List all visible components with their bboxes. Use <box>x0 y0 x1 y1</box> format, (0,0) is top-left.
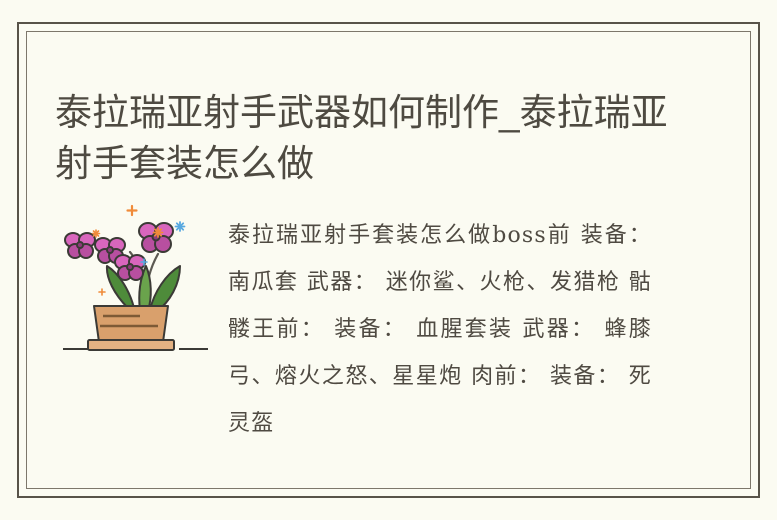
article-body-text: 泰拉瑞亚射手套装怎么做boss前 装备： 南瓜套 武器： 迷你鲨、火枪、发猎枪 … <box>228 212 652 480</box>
sparkle-plus-orange-icon <box>128 206 137 215</box>
page-root: 泰拉瑞亚射手武器如何制作_泰拉瑞亚射手套装怎么做 <box>0 0 777 520</box>
sparkle-star-orange-small-icon <box>93 230 100 237</box>
potted-orchid-illustration <box>58 196 213 374</box>
page-title: 泰拉瑞亚射手武器如何制作_泰拉瑞亚射手套装怎么做 <box>55 87 675 189</box>
sparkle-dot-orange-icon <box>99 289 105 295</box>
sparkle-star-orange-icon <box>154 228 163 237</box>
flower-pot-icon <box>88 306 174 350</box>
sparkle-star-blue-icon <box>176 222 185 231</box>
